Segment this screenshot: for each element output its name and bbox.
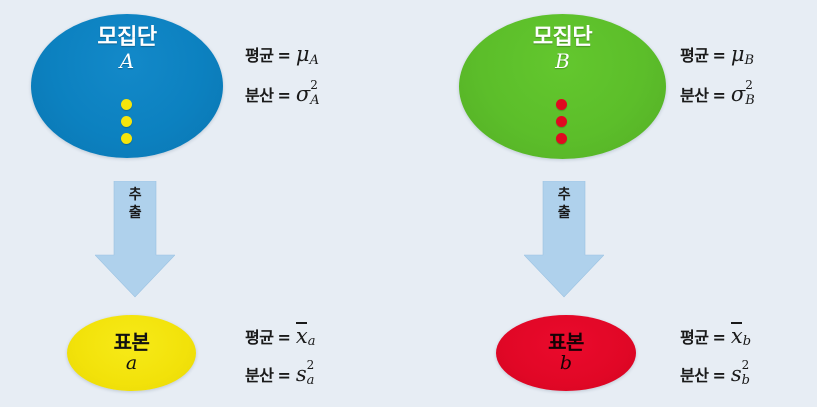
diagram-canvas: 모집단 A 평균 = μA 분산 = σ2A 추 출 bbox=[0, 0, 817, 407]
population-b-formulas: 평균 = μB 분산 = σ2B bbox=[680, 42, 745, 122]
equals-sign: = bbox=[712, 328, 725, 347]
population-a-variance-row: 분산 = σ2A bbox=[245, 82, 310, 122]
equals-sign: = bbox=[277, 328, 290, 347]
mu-glyph: μ bbox=[731, 42, 745, 66]
population-a-label: 모집단 bbox=[97, 26, 156, 49]
equals-sign: = bbox=[712, 86, 725, 105]
sigma-subscript: B bbox=[745, 93, 755, 108]
equals-sign: = bbox=[277, 86, 290, 105]
variance-label: 분산 bbox=[680, 82, 708, 106]
population-b-dots bbox=[556, 99, 567, 144]
mu-subscript: B bbox=[745, 53, 755, 68]
s-superscript: 2 bbox=[742, 358, 750, 372]
dot bbox=[556, 99, 567, 110]
x-bar-a-symbol: xa bbox=[296, 322, 308, 348]
population-a-identifier: A bbox=[120, 50, 134, 73]
sample-b-variance-row: 분산 = s2b bbox=[680, 362, 743, 402]
arrow-label-line2: 출 bbox=[95, 205, 175, 223]
sigma-glyph: σ bbox=[296, 82, 310, 106]
sampling-arrow-a-label: 추 출 bbox=[95, 187, 175, 222]
equals-sign: = bbox=[277, 46, 290, 65]
dot bbox=[556, 133, 567, 144]
population-b-label: 모집단 bbox=[533, 26, 592, 49]
mean-label: 평균 bbox=[680, 42, 708, 66]
s-subscript: b bbox=[742, 373, 750, 388]
overbar bbox=[731, 322, 742, 324]
overbar bbox=[296, 322, 307, 324]
dot bbox=[556, 116, 567, 127]
population-b-identifier: B bbox=[555, 50, 570, 73]
x-glyph: x bbox=[296, 324, 308, 348]
s-glyph: s bbox=[296, 362, 307, 386]
mean-label: 평균 bbox=[680, 324, 708, 348]
equals-sign: = bbox=[277, 366, 290, 385]
x-glyph: x bbox=[731, 324, 743, 348]
variance-label: 분산 bbox=[245, 362, 273, 386]
dot bbox=[121, 99, 132, 110]
sample-a-label: 표본 bbox=[114, 332, 150, 353]
equals-sign: = bbox=[712, 46, 725, 65]
variance-label: 분산 bbox=[680, 362, 708, 386]
s-squared-a-symbol: s2a bbox=[296, 362, 307, 386]
mean-label: 평균 bbox=[245, 42, 273, 66]
x-subscript: a bbox=[308, 334, 316, 349]
sample-a-mean-row: 평균 = xa bbox=[245, 322, 308, 362]
sigma-subscript: A bbox=[310, 93, 319, 108]
x-bar-b-symbol: xb bbox=[731, 322, 743, 348]
sample-b-identifier: b bbox=[560, 353, 572, 375]
sample-b-ellipse: 표본 b bbox=[496, 315, 636, 391]
sigma-superscript: 2 bbox=[310, 78, 318, 92]
sigma-superscript: 2 bbox=[745, 78, 753, 92]
population-a-dots bbox=[121, 99, 132, 144]
mu-b-symbol: μB bbox=[731, 42, 745, 66]
mean-label: 평균 bbox=[245, 324, 273, 348]
population-a-formulas: 평균 = μA 분산 = σ2A bbox=[245, 42, 310, 122]
sample-a-variance-row: 분산 = s2a bbox=[245, 362, 308, 402]
mu-glyph: μ bbox=[296, 42, 310, 66]
s-superscript: 2 bbox=[307, 358, 315, 372]
sampling-arrow-b: 추 출 bbox=[524, 181, 604, 299]
population-a-mean-row: 평균 = μA bbox=[245, 42, 310, 82]
sigma-squared-a-symbol: σ2A bbox=[296, 82, 310, 106]
s-squared-b-symbol: s2b bbox=[731, 362, 742, 386]
s-glyph: s bbox=[731, 362, 742, 386]
sample-b-mean-row: 평균 = xb bbox=[680, 322, 743, 362]
sample-a-formulas: 평균 = xa 분산 = s2a bbox=[245, 322, 308, 402]
dot bbox=[121, 133, 132, 144]
sampling-arrow-b-label: 추 출 bbox=[524, 187, 604, 222]
sampling-arrow-a: 추 출 bbox=[95, 181, 175, 299]
population-b-variance-row: 분산 = σ2B bbox=[680, 82, 745, 122]
arrow-label-line1: 추 bbox=[524, 187, 604, 205]
x-subscript: b bbox=[743, 334, 751, 349]
dot bbox=[121, 116, 132, 127]
sample-a-identifier: a bbox=[126, 353, 137, 375]
sigma-glyph: σ bbox=[731, 82, 745, 106]
sample-b-label: 표본 bbox=[548, 332, 584, 353]
sigma-squared-b-symbol: σ2B bbox=[731, 82, 745, 106]
mu-a-symbol: μA bbox=[296, 42, 310, 66]
equals-sign: = bbox=[712, 366, 725, 385]
arrow-label-line2: 출 bbox=[524, 205, 604, 223]
sample-a-ellipse: 표본 a bbox=[67, 315, 196, 391]
population-b-mean-row: 평균 = μB bbox=[680, 42, 745, 82]
mu-subscript: A bbox=[310, 53, 319, 68]
sample-b-formulas: 평균 = xb 분산 = s2b bbox=[680, 322, 743, 402]
variance-label: 분산 bbox=[245, 82, 273, 106]
arrow-label-line1: 추 bbox=[95, 187, 175, 205]
s-subscript: a bbox=[307, 373, 315, 388]
